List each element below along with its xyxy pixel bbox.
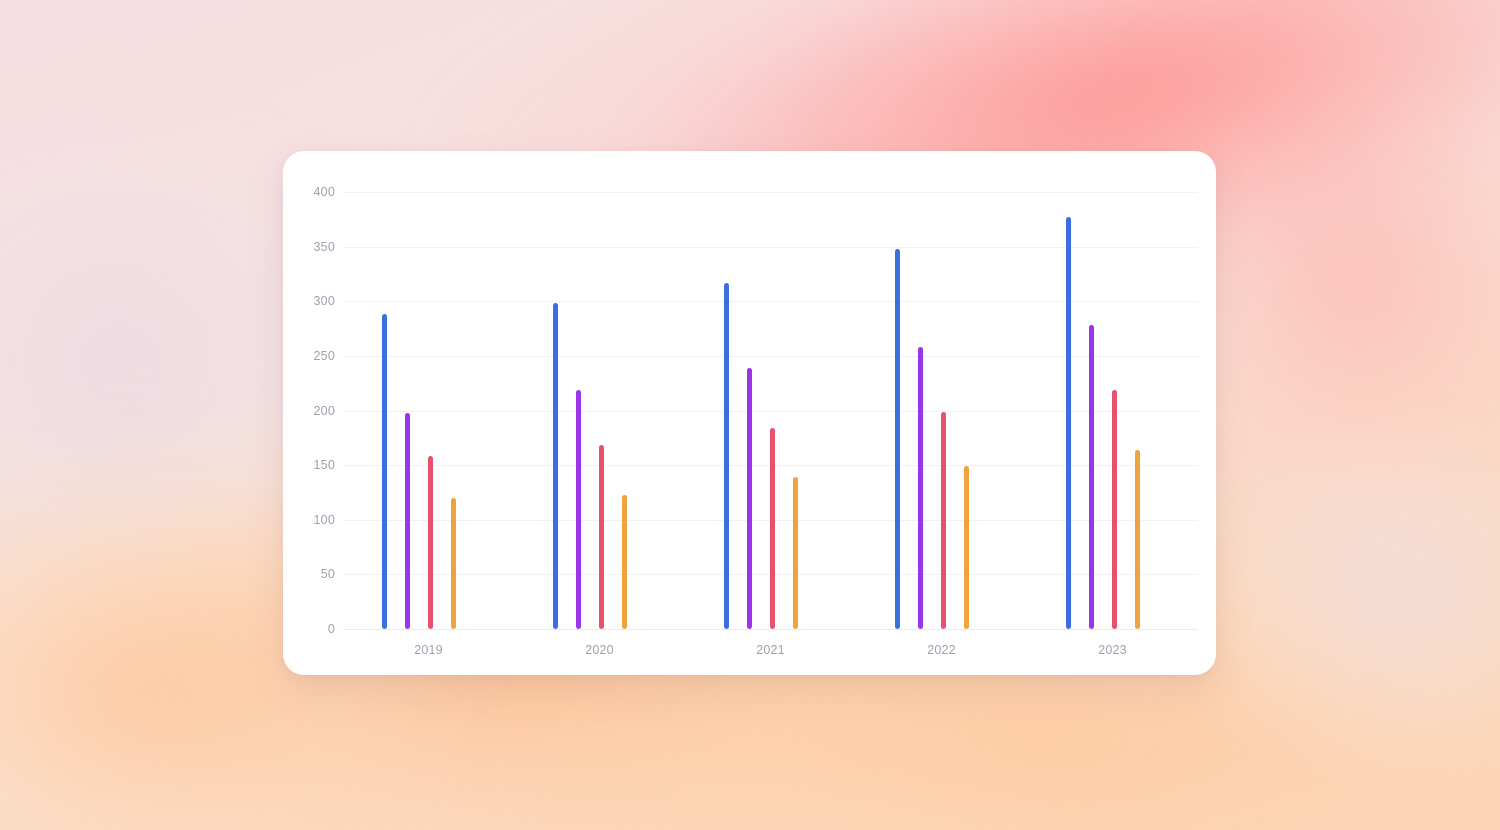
bar-2021-series-3[interactable] (770, 428, 775, 629)
bar-2020-series-3[interactable] (599, 445, 604, 629)
bar-2019-series-2[interactable] (405, 413, 410, 629)
bar-2022-series-2[interactable] (918, 347, 923, 629)
y-axis-tick-150: 150 (297, 458, 335, 472)
bar-2020-series-2[interactable] (576, 390, 581, 629)
bar-2019-series-4[interactable] (451, 498, 456, 629)
y-axis-tick-100: 100 (297, 513, 335, 527)
bar-2021-series-1[interactable] (724, 283, 729, 629)
bar-2020-series-1[interactable] (553, 303, 558, 629)
bar-group-2022: 2022 (856, 151, 1027, 675)
x-axis-label-2023: 2023 (1027, 643, 1198, 657)
x-axis-label-2019: 2019 (343, 643, 514, 657)
y-axis-tick-300: 300 (297, 294, 335, 308)
bar-group-2019: 2019 (343, 151, 514, 675)
bar-2023-series-2[interactable] (1089, 325, 1094, 629)
bar-2019-series-1[interactable] (382, 314, 387, 629)
x-axis-label-2021: 2021 (685, 643, 856, 657)
bar-group-2021: 2021 (685, 151, 856, 675)
x-axis-label-2022: 2022 (856, 643, 1027, 657)
bar-groups: 20192020202120222023 (343, 151, 1198, 675)
y-axis-tick-350: 350 (297, 240, 335, 254)
bar-2020-series-4[interactable] (622, 495, 627, 629)
bar-2019-series-3[interactable] (428, 456, 433, 629)
bar-group-bars (343, 151, 514, 675)
chart-card: 400350300250200150100500 201920202021202… (283, 151, 1216, 675)
bar-2023-series-1[interactable] (1066, 217, 1071, 629)
bar-group-bars (514, 151, 685, 675)
y-axis-tick-50: 50 (297, 567, 335, 581)
bar-2021-series-4[interactable] (793, 477, 798, 629)
bar-2022-series-4[interactable] (964, 466, 969, 629)
page-background: 400350300250200150100500 201920202021202… (0, 0, 1500, 830)
bar-group-bars (1027, 151, 1198, 675)
y-axis: 400350300250200150100500 (297, 151, 335, 675)
bar-group-2020: 2020 (514, 151, 685, 675)
bar-group-2023: 2023 (1027, 151, 1198, 675)
y-axis-tick-400: 400 (297, 185, 335, 199)
y-axis-tick-0: 0 (297, 622, 335, 636)
bar-2022-series-3[interactable] (941, 412, 946, 629)
background-wash-lilac-right (1220, 430, 1500, 760)
bar-group-bars (685, 151, 856, 675)
x-axis-label-2020: 2020 (514, 643, 685, 657)
bar-2022-series-1[interactable] (895, 249, 900, 629)
bar-2023-series-3[interactable] (1112, 390, 1117, 629)
bar-2023-series-4[interactable] (1135, 450, 1140, 629)
y-axis-tick-200: 200 (297, 404, 335, 418)
bar-group-bars (856, 151, 1027, 675)
bar-2021-series-2[interactable] (747, 368, 752, 629)
bar-chart-plot: 400350300250200150100500 201920202021202… (283, 151, 1216, 675)
y-axis-tick-250: 250 (297, 349, 335, 363)
